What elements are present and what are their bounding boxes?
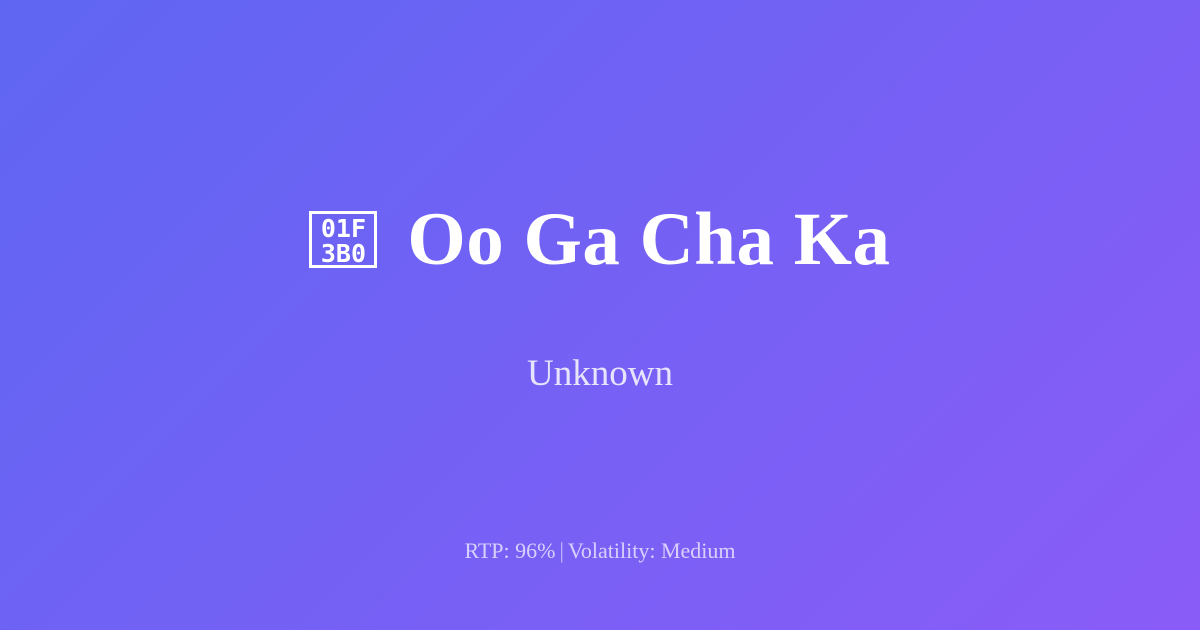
- game-meta-line: RTP: 96%|Volatility: Medium: [0, 538, 1200, 564]
- game-preview-card: 01F 3B0 Oo Ga Cha Ka Unknown RTP: 96%|Vo…: [0, 0, 1200, 630]
- title-row: 01F 3B0 Oo Ga Cha Ka: [0, 199, 1200, 280]
- codepoint-line-upper: 01F: [321, 216, 366, 241]
- meta-separator: |: [555, 538, 567, 563]
- slot-machine-icon: 01F 3B0: [309, 211, 377, 268]
- card-subtitle: Unknown: [527, 280, 673, 396]
- card-center-stack: 01F 3B0 Oo Ga Cha Ka Unknown: [0, 199, 1200, 396]
- page-title: Oo Ga Cha Ka: [407, 199, 890, 280]
- volatility-value: Volatility: Medium: [568, 538, 736, 563]
- codepoint-line-lower: 3B0: [321, 241, 366, 266]
- card-footer: RTP: 96%|Volatility: Medium: [0, 538, 1200, 564]
- rtp-value: RTP: 96%: [464, 538, 555, 563]
